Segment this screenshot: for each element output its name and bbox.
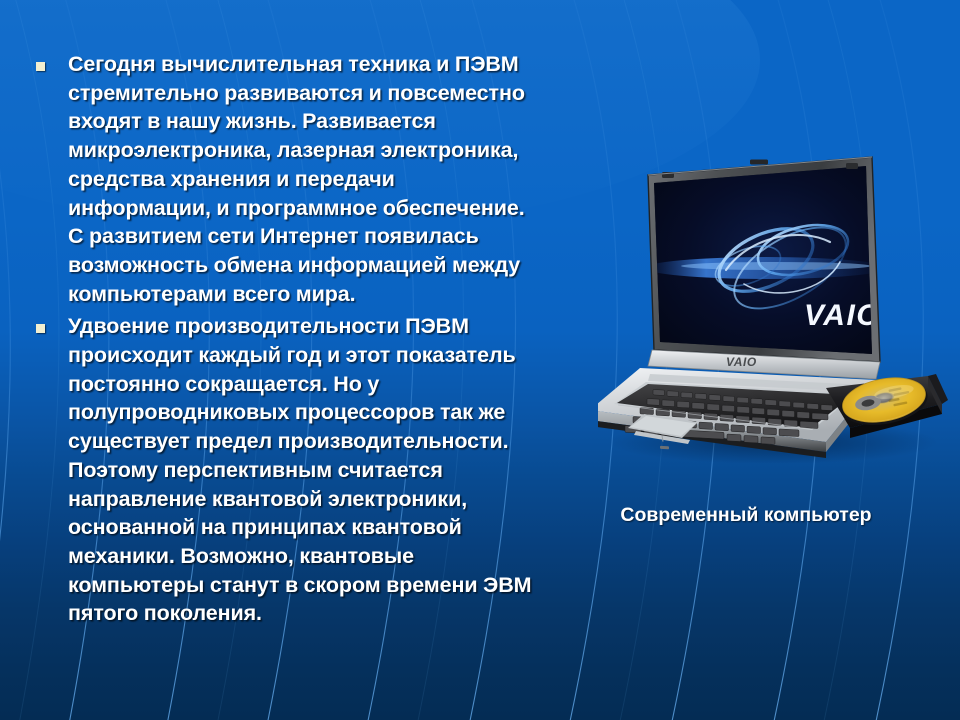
vaio-bezel-logo-text: VAIO [726,355,757,369]
status-indicators [660,446,669,450]
square-bullet-icon [36,62,45,71]
sony-vaio-laptop-image: VAIO VAIO [598,142,950,472]
vaio-screen-logo-text: VAIO [804,299,881,332]
slide-body-text: Сегодня вычислительная техника и ПЭВМ ст… [30,50,540,632]
bullet-item-text: Удвоение производительности ПЭВМ происхо… [68,312,540,628]
presentation-slide: Сегодня вычислительная техника и ПЭВМ ст… [0,0,960,720]
bullet-item-text: Сегодня вычислительная техника и ПЭВМ ст… [68,50,540,308]
bullet-item: Сегодня вычислительная техника и ПЭВМ ст… [30,50,540,308]
bullet-item: Удвоение производительности ПЭВМ происхо… [30,312,540,628]
laptop-screen: VAIO [646,160,888,360]
picture-caption: Современный компьютер [560,504,932,527]
square-bullet-icon [36,324,45,333]
lid-latch [750,160,768,165]
laptop-lid: VAIO [646,157,888,362]
